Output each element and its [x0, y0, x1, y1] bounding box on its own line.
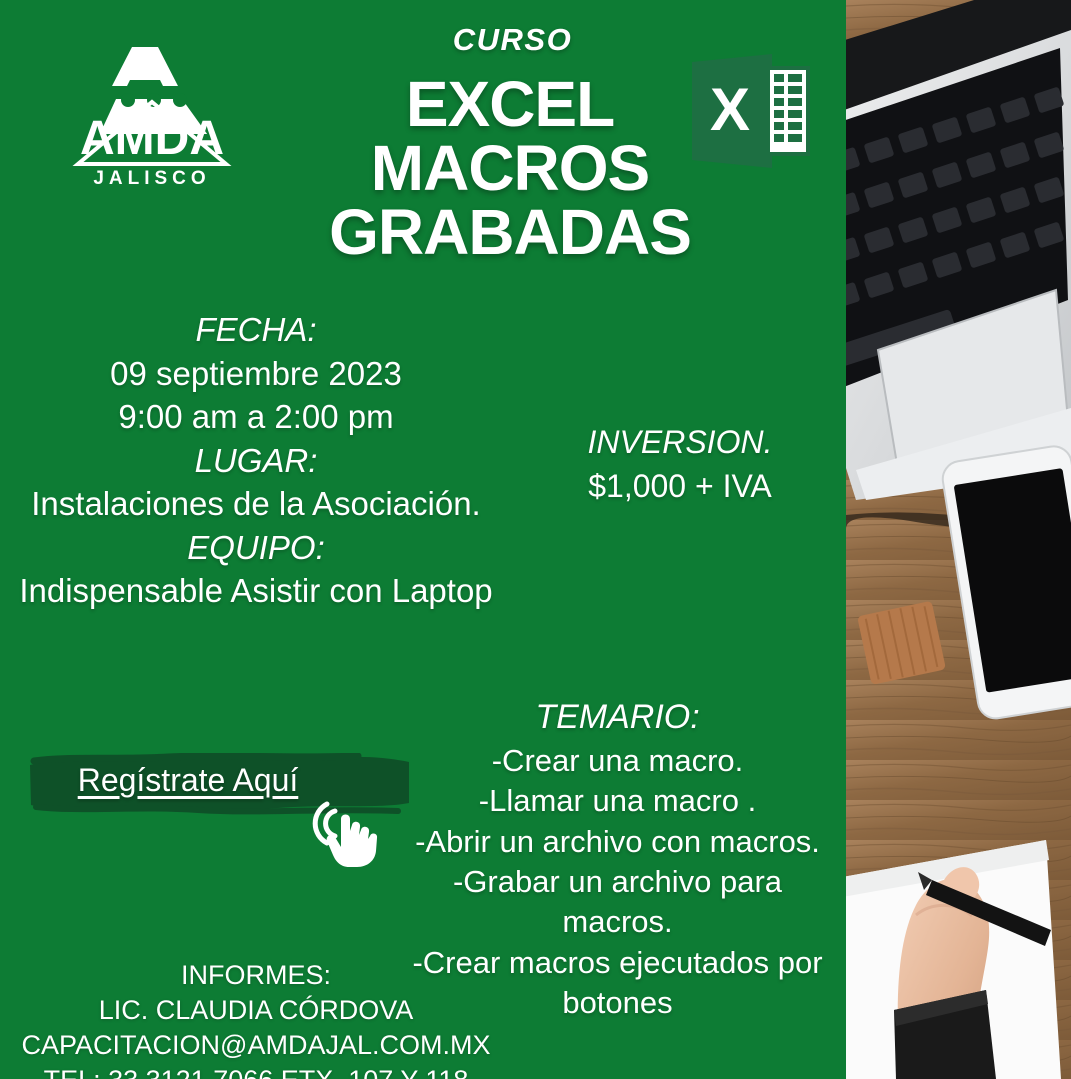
hora-value: 9:00 am a 2:00 pm: [0, 395, 512, 439]
tap-hand-icon: [297, 791, 389, 869]
fecha-value: 09 septiembre 2023: [0, 352, 512, 396]
fecha-label: FECHA:: [0, 308, 512, 352]
contact-phone: TEL: 33 3121 7066 ETX. 107 Y 118: [0, 1063, 512, 1079]
inversion-label: INVERSION.: [540, 420, 820, 464]
title-line-3: GRABADAS: [300, 200, 720, 264]
equipo-value: Indispensable Asistir con Laptop: [0, 569, 512, 613]
svg-text:X: X: [710, 76, 750, 143]
contact-email: CAPACITACION@AMDAJAL.COM.MX: [0, 1028, 512, 1063]
excel-icon: X: [686, 52, 816, 170]
register-button[interactable]: Regístrate Aquí: [28, 753, 411, 815]
equipo-label: EQUIPO:: [0, 526, 512, 570]
event-details: FECHA: 09 septiembre 2023 9:00 am a 2:00…: [0, 308, 512, 613]
temario-item: -Abrir un archivo con macros.: [395, 822, 840, 862]
temario-label: TEMARIO:: [395, 695, 840, 739]
temario-item: -Grabar un archivo para macros.: [395, 862, 840, 943]
lugar-label: LUGAR:: [0, 439, 512, 483]
title-line-1: EXCEL: [300, 72, 720, 136]
poster-root: AMDA JALISCO CURSO EXCEL MACROS GRABADAS: [0, 0, 1071, 1079]
laptop-desk-photo: [846, 0, 1071, 1079]
amda-jalisco-logo: AMDA JALISCO: [60, 42, 245, 192]
inversion-block: INVERSION. $1,000 + IVA: [540, 420, 820, 508]
title-line-2: MACROS: [300, 136, 720, 200]
svg-text:AMDA: AMDA: [80, 112, 224, 165]
svg-text:JALISCO: JALISCO: [93, 168, 210, 189]
temario-item: -Crear una macro.: [395, 741, 840, 781]
contact-info: INFORMES: LIC. CLAUDIA CÓRDOVA CAPACITAC…: [0, 958, 512, 1079]
lugar-value: Instalaciones de la Asociación.: [0, 482, 512, 526]
informes-label: INFORMES:: [0, 958, 512, 993]
page-title: EXCEL MACROS GRABADAS: [300, 72, 720, 264]
inversion-value: $1,000 + IVA: [540, 464, 820, 508]
eyebrow-curso: CURSO: [330, 22, 695, 58]
temario-item: -Llamar una macro .: [395, 781, 840, 821]
contact-name: LIC. CLAUDIA CÓRDOVA: [0, 993, 512, 1028]
